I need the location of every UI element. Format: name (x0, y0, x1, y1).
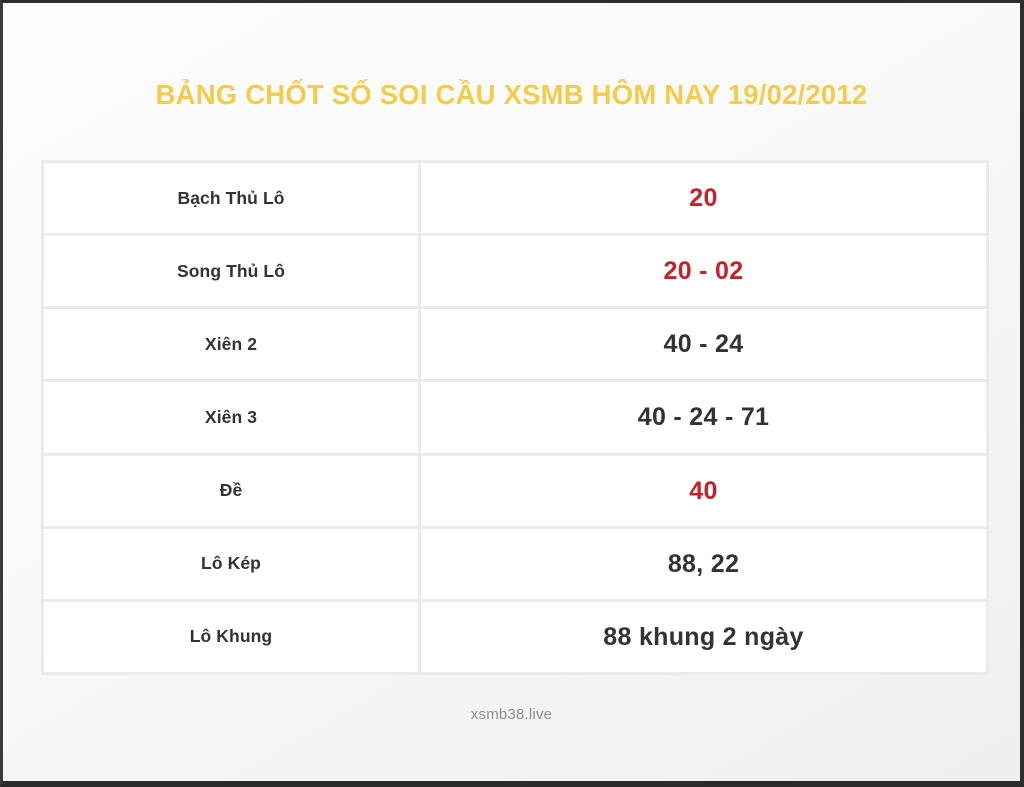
row-value: 20 (689, 183, 717, 213)
row-label-cell: Xiên 2 (44, 309, 421, 379)
row-label: Lô Khung (190, 626, 272, 647)
prediction-table: Bạch Thủ Lô20Song Thủ Lô20 - 02Xiên 240 … (41, 160, 989, 675)
row-value-cell: 88, 22 (421, 529, 986, 599)
table-row: Song Thủ Lô20 - 02 (44, 236, 986, 309)
row-label: Song Thủ Lô (177, 261, 285, 282)
footer: xsmb38.live (3, 706, 1020, 724)
row-value-cell: 88 khung 2 ngày (421, 602, 986, 672)
row-label-cell: Lô Khung (44, 602, 421, 672)
row-label: Xiên 2 (205, 334, 257, 355)
row-label: Đề (220, 480, 243, 501)
table-row: Xiên 340 - 24 - 71 (44, 382, 986, 455)
row-value: 88 khung 2 ngày (603, 622, 803, 652)
page-title: BẢNG CHỐT SỐ SOI CẦU XSMB HÔM NAY 19/02/… (156, 79, 868, 111)
table-row: Xiên 240 - 24 (44, 309, 986, 382)
row-value-cell: 40 - 24 - 71 (421, 382, 986, 452)
row-label-cell: Đề (44, 456, 421, 526)
table-row: Lô Khung88 khung 2 ngày (44, 602, 986, 672)
row-value: 20 - 02 (664, 256, 744, 286)
row-value-cell: 40 (421, 456, 986, 526)
row-label-cell: Song Thủ Lô (44, 236, 421, 306)
row-value-cell: 40 - 24 (421, 309, 986, 379)
screenshot-canvas: BẢNG CHỐT SỐ SOI CẦU XSMB HÔM NAY 19/02/… (0, 0, 1024, 787)
row-value: 40 - 24 (664, 329, 744, 359)
row-label: Xiên 3 (205, 407, 257, 428)
row-label: Lô Kép (201, 553, 261, 574)
table-row: Đề40 (44, 456, 986, 529)
site-watermark: xsmb38.live (471, 706, 552, 723)
row-label-cell: Lô Kép (44, 529, 421, 599)
table-row: Bạch Thủ Lô20 (44, 163, 986, 236)
table-row: Lô Kép88, 22 (44, 529, 986, 602)
row-value-cell: 20 - 02 (421, 236, 986, 306)
row-value: 88, 22 (668, 549, 739, 579)
row-label-cell: Xiên 3 (44, 382, 421, 452)
row-label-cell: Bạch Thủ Lô (44, 163, 421, 233)
title-container: BẢNG CHỐT SỐ SOI CẦU XSMB HÔM NAY 19/02/… (3, 79, 1020, 111)
row-value: 40 (689, 476, 717, 506)
row-label: Bạch Thủ Lô (177, 188, 284, 209)
row-value: 40 - 24 - 71 (638, 402, 769, 432)
row-value-cell: 20 (421, 163, 986, 233)
